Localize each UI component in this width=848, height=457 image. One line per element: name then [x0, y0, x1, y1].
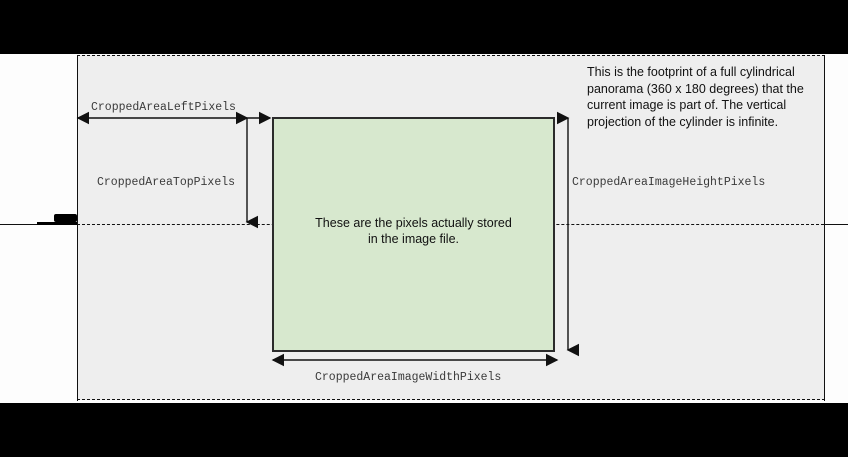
label-cropped-area-left-pixels: CroppedAreaLeftPixels	[91, 101, 236, 114]
top-pixels-arrow	[240, 110, 256, 232]
panorama-bottom-edge	[77, 399, 825, 400]
cropped-area-caption-line-1: These are the pixels actually stored	[274, 215, 553, 231]
diagram-canvas: These are the pixels actually stored in …	[0, 0, 848, 457]
panorama-top-edge	[77, 55, 825, 56]
cropped-area-box: These are the pixels actually stored in …	[272, 117, 555, 352]
image-height-pixels-arrow	[560, 110, 576, 360]
horizon-stub	[37, 222, 77, 225]
horizon-line-right	[824, 224, 848, 225]
panorama-note: This is the footprint of a full cylindri…	[587, 64, 827, 130]
panorama-left-edge	[77, 55, 78, 401]
cropped-area-caption: These are the pixels actually stored in …	[274, 215, 553, 247]
label-cropped-area-top-pixels: CroppedAreaTopPixels	[97, 176, 235, 189]
horizon-marker-block	[54, 214, 77, 222]
label-cropped-area-image-width-pixels: CroppedAreaImageWidthPixels	[315, 371, 501, 384]
cropped-area-caption-line-2: in the image file.	[274, 231, 553, 247]
image-width-pixels-arrow	[265, 352, 565, 368]
label-cropped-area-image-height-pixels: CroppedAreaImageHeightPixels	[572, 176, 765, 189]
